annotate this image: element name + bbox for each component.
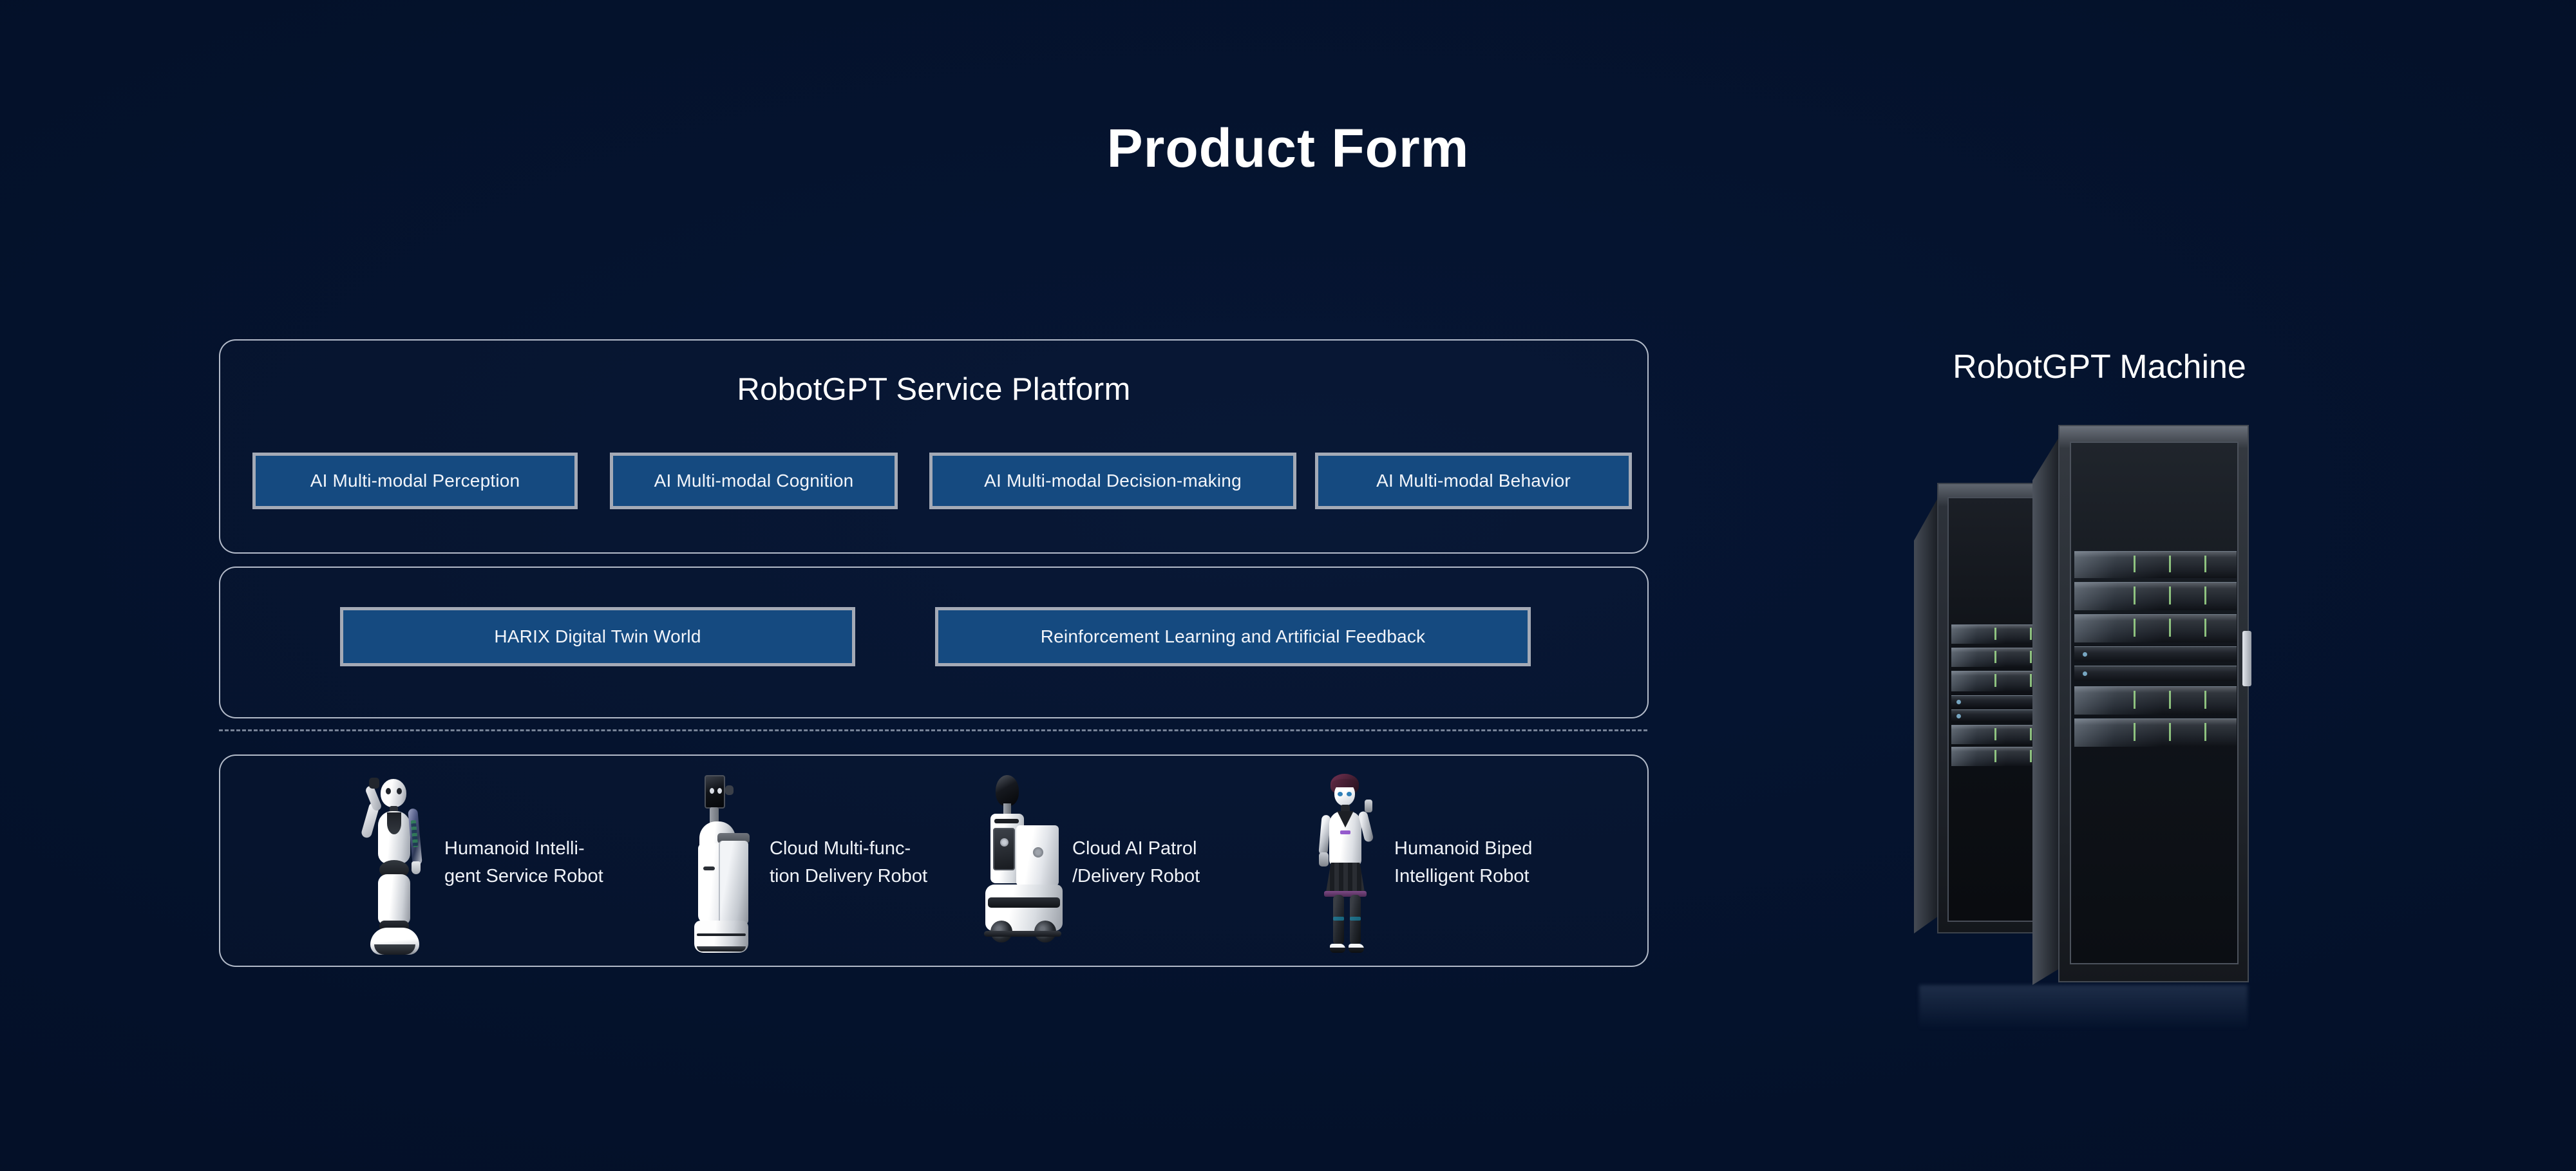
slide-canvas: Product Form RobotGPT Service Platform A… (0, 0, 2576, 1171)
server-rack-icon (1906, 418, 2267, 1024)
capability-chip-cognition[interactable]: AI Multi-modal Cognition (610, 453, 898, 509)
platform-panel-title: RobotGPT Service Platform (220, 371, 1647, 408)
robot-item-humanoid-service[interactable]: Humanoid Intelli- gent Service Robot (351, 769, 603, 956)
page-title: Product Form (0, 117, 2576, 180)
capability-chip-decision-making[interactable]: AI Multi-modal Decision-making (929, 453, 1296, 509)
section-divider (219, 729, 1647, 731)
server-cabinet-front (2032, 425, 2249, 985)
capability-chip-perception[interactable]: AI Multi-modal Perception (252, 453, 578, 509)
robot-item-humanoid-biped[interactable]: Humanoid Biped Intelligent Robot (1301, 769, 1532, 956)
robot-item-patrol-delivery[interactable]: Cloud AI Patrol /Delivery Robot (979, 769, 1200, 956)
patrol-robot-icon (979, 771, 1066, 955)
capability-chip-behavior[interactable]: AI Multi-modal Behavior (1315, 453, 1632, 509)
humanoid-service-robot-icon (351, 771, 438, 955)
machine-section-title: RobotGPT Machine (1777, 348, 2421, 386)
robot-item-cloud-delivery[interactable]: Cloud Multi-func- tion Delivery Robot (676, 769, 927, 956)
robot-label: Humanoid Intelli- gent Service Robot (444, 835, 603, 890)
feature-chip-harix-digital-twin[interactable]: HARIX Digital Twin World (340, 607, 855, 666)
rack-reflection (1919, 985, 2248, 1030)
feature-chip-reinforcement-learning[interactable]: Reinforcement Learning and Artificial Fe… (935, 607, 1531, 666)
biped-robot-icon (1301, 771, 1388, 955)
robot-label: Cloud AI Patrol /Delivery Robot (1072, 835, 1200, 890)
cabinet-door-handle[interactable] (2242, 631, 2251, 686)
robot-label: Humanoid Biped Intelligent Robot (1394, 835, 1532, 890)
robot-label: Cloud Multi-func- tion Delivery Robot (770, 835, 927, 890)
platform-panel: RobotGPT Service Platform (219, 339, 1649, 554)
cloud-delivery-robot-icon (676, 771, 763, 955)
